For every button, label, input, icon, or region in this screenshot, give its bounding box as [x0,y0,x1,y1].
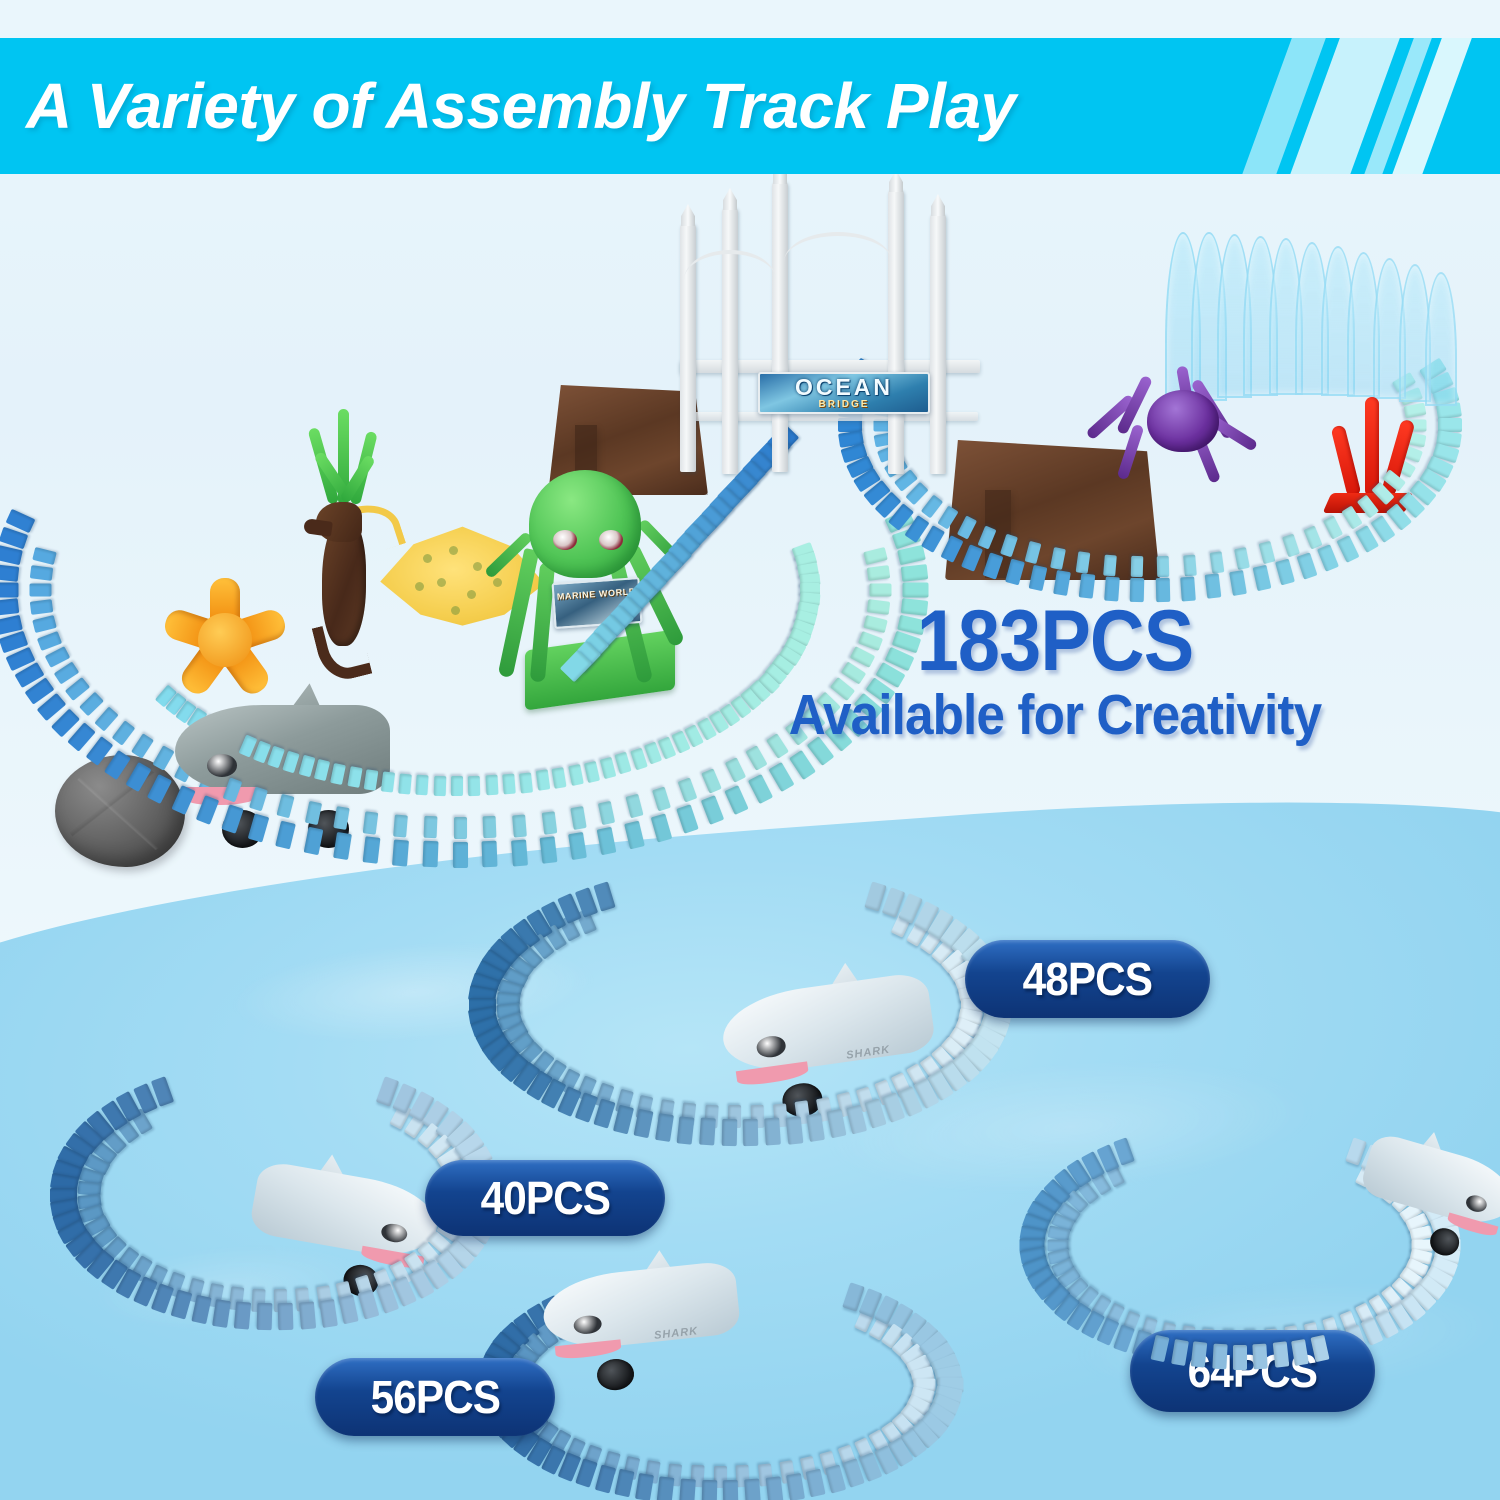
banner-title: A Variety of Assembly Track Play [26,69,1016,143]
shark-mouth [555,1339,622,1360]
ocean-sign-secondary-text: BRIDGE [819,399,870,410]
seahorse [300,480,400,695]
purple-octopus [1095,360,1270,480]
bridge-tower-4 [888,188,904,474]
product-infographic: A Variety of Assembly Track Play OCEAN [0,0,1500,1500]
bridge-cable-right [684,250,776,310]
badge-40pcs-label: 40PCS [480,1171,609,1225]
bridge-tower-1 [680,222,696,472]
suspension-bridge: OCEAN BRIDGE [640,160,1060,520]
ocean-bridge-sign: OCEAN BRIDGE [758,372,930,414]
badge-40pcs: 40PCS [425,1160,665,1236]
badge-56pcs-label: 56PCS [370,1370,499,1424]
ocean-sign-primary-text: OCEAN [795,376,893,398]
shark-eye [207,754,237,777]
bridge-tower-2 [722,206,738,474]
pcs-count: 183PCS [773,600,1336,683]
badge-48pcs: 48PCS [965,940,1210,1018]
banner-stripes-decoration [1170,38,1500,174]
bridge-cable-left [784,232,892,292]
badge-56pcs: 56PCS [315,1358,555,1436]
pcs-tagline: Available for Creativity [767,687,1343,744]
bridge-tower-5 [930,212,946,474]
pcs-headline: 183PCS Available for Creativity [735,600,1375,744]
badge-48pcs-label: 48PCS [1023,952,1152,1006]
starfish [160,575,290,705]
bridge-tower-3 [772,180,788,472]
header-banner: A Variety of Assembly Track Play [0,38,1500,174]
shark-car-56: SHARK [540,1260,745,1390]
